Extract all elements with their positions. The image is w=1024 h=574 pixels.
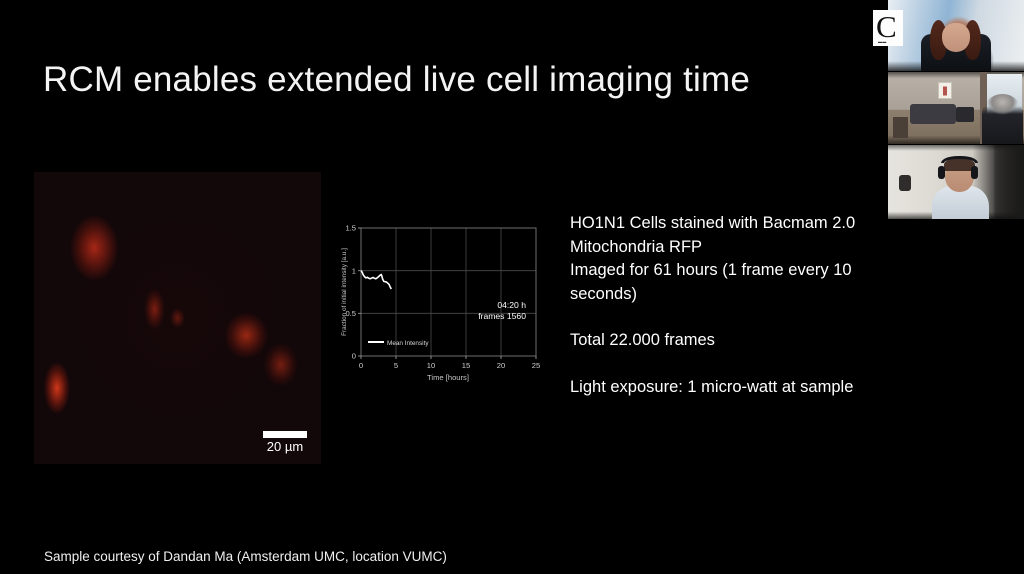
participant-tile-3-headphone-right <box>971 166 978 179</box>
chart-x-tick: 15 <box>462 361 470 370</box>
channel-logo-badge: C ▬▬ <box>873 10 903 46</box>
live-cell-fluorescence-micrograph: 20 µm <box>34 172 321 464</box>
headphones-icon <box>941 156 978 163</box>
slide-body-text: HO1N1 Cells stained with Bacmam 2.0 Mito… <box>570 212 930 399</box>
slide-title: RCM enables extended live cell imaging t… <box>43 59 750 101</box>
chart-y-tick: 0 <box>352 352 356 361</box>
participant-tile-1[interactable] <box>888 0 1024 71</box>
participant-tile-1-face <box>942 23 969 51</box>
chart-x-tick: 25 <box>532 361 540 370</box>
body-line-3: Imaged for 61 hours (1 frame every 10 <box>570 259 930 283</box>
body-spacer-2 <box>570 353 930 376</box>
scale-bar: 20 µm <box>263 431 307 454</box>
body-line-6: Light exposure: 1 micro-watt at sample <box>570 376 930 400</box>
participant-tile-2-box <box>956 107 974 123</box>
chart-y-tick: 1.5 <box>345 224 356 233</box>
scale-bar-line <box>263 431 307 438</box>
participant-tile-2-wall-picture <box>938 82 952 99</box>
participant-tile-2-couch <box>910 104 956 124</box>
micrograph-image-area <box>34 172 321 464</box>
scale-bar-label: 20 µm <box>263 439 307 454</box>
participant-tile-2-chair <box>893 117 908 139</box>
participant-tile-2-picture-mark <box>943 86 947 95</box>
chart-svg: 0510152025 00.511.5 Mean Intensity 04:20… <box>336 218 548 398</box>
participant-tile-3-lamp <box>899 175 911 191</box>
body-line-5: Total 22.000 frames <box>570 329 930 353</box>
logo-subtext: ▬▬ <box>878 39 887 44</box>
chart-x-axis-label: Time [hours] <box>427 373 469 382</box>
body-line-1: HO1N1 Cells stained with Bacmam 2.0 <box>570 212 930 236</box>
slide-footer-credit: Sample courtesy of Dandan Ma (Amsterdam … <box>44 549 447 564</box>
participant-video-panel <box>888 0 1024 219</box>
participant-tile-3[interactable] <box>888 145 1024 219</box>
chart-annotation-frame-count: frames 1560 <box>478 311 526 321</box>
chart-legend-label: Mean Intensity <box>387 340 429 347</box>
chart-x-tick: 0 <box>359 361 363 370</box>
mean-intensity-decay-chart: 0510152025 00.511.5 Mean Intensity 04:20… <box>336 218 548 398</box>
chart-y-tick: 1 <box>352 266 356 275</box>
chart-y-axis-label: Fraction of initial intensity [a.u.] <box>341 248 348 336</box>
body-spacer-1 <box>570 306 930 329</box>
chart-x-tick: 5 <box>394 361 398 370</box>
participant-tile-3-headphone-left <box>938 166 945 179</box>
presentation-screen-share: RCM enables extended live cell imaging t… <box>0 0 1024 574</box>
body-line-4: seconds) <box>570 283 930 307</box>
participant-tile-2-person <box>982 94 1023 144</box>
chart-x-tick: 10 <box>427 361 435 370</box>
chart-annotation-elapsed-time: 04:20 h <box>497 300 526 310</box>
body-line-2: Mitochondria RFP <box>570 236 930 260</box>
participant-tile-3-background-right <box>994 145 1024 219</box>
chart-x-tick: 20 <box>497 361 505 370</box>
participant-tile-2[interactable] <box>888 72 1024 144</box>
